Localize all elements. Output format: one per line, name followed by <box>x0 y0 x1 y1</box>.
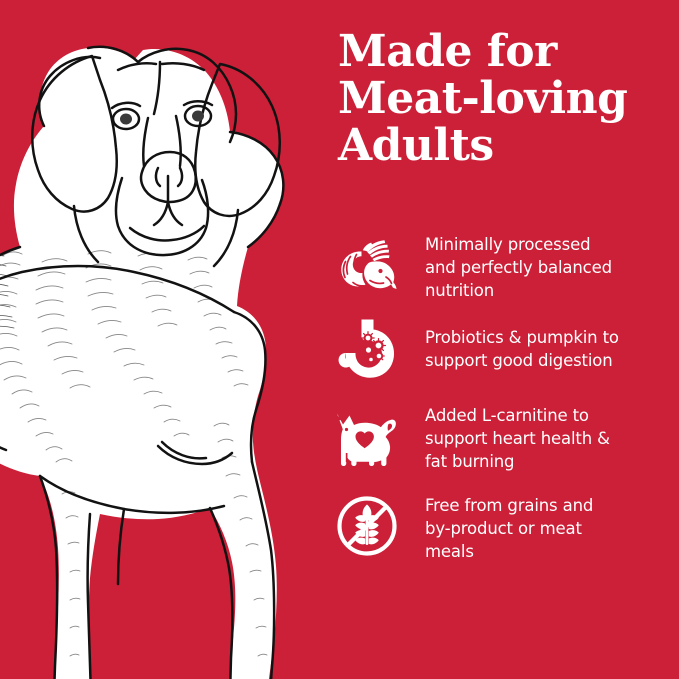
feature-text-line: support good digestion <box>425 349 679 372</box>
feature-text: Minimally processed and perfectly balanc… <box>401 228 679 302</box>
feature-text-line: meals <box>425 540 679 563</box>
feature-text: Free from grains and by-product or meat … <box>401 490 679 563</box>
feature-item: Minimally processed and perfectly balanc… <box>333 228 679 304</box>
feature-list: Minimally processed and perfectly balanc… <box>333 228 679 575</box>
shrimp-fish-icon <box>333 228 401 300</box>
feature-text-line: Added L-carnitine to <box>425 404 679 427</box>
page-title: Made for Meat-loving Adults <box>338 28 678 169</box>
feature-text-line: fat burning <box>425 450 679 473</box>
no-grain-icon <box>333 490 401 562</box>
feature-text-line: by-product or meat <box>425 517 679 540</box>
headline-line-1: Made for <box>338 28 678 75</box>
feature-text-line: Minimally processed <box>425 233 679 256</box>
feature-text-line: nutrition <box>425 279 679 302</box>
feature-text-line: and perfectly balanced <box>425 256 679 279</box>
feature-text: Added L-carnitine to support heart healt… <box>401 402 679 473</box>
line-art-dog-illustration <box>0 6 342 679</box>
feature-item: Probiotics & pumpkin to support good dig… <box>333 313 679 389</box>
feature-text-line: support heart health & <box>425 427 679 450</box>
headline-line-3: Adults <box>338 122 678 169</box>
feature-text: Probiotics & pumpkin to support good dig… <box>401 313 679 372</box>
dog-heart-icon <box>333 402 401 474</box>
stomach-probiotics-icon <box>333 313 401 385</box>
product-feature-poster: Made for Meat-loving Adults <box>0 0 679 679</box>
feature-text-line: Free from grains and <box>425 494 679 517</box>
feature-item: Free from grains and by-product or meat … <box>333 490 679 566</box>
headline-line-2: Meat-loving <box>338 75 678 122</box>
feature-item: Added L-carnitine to support heart healt… <box>333 402 679 478</box>
feature-text-line: Probiotics & pumpkin to <box>425 326 679 349</box>
content-column: Made for Meat-loving Adults <box>333 0 679 679</box>
